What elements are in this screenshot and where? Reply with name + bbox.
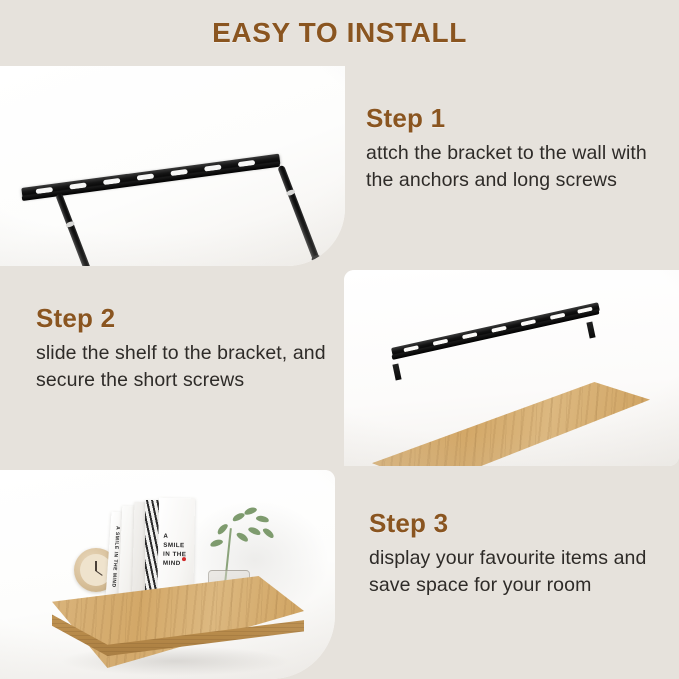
bracket-product-photo [0, 66, 345, 266]
plant-leaf [243, 506, 257, 516]
step-3-image-panel: A SMILE IN THE MIND A SMILEIN THEMIND [0, 470, 335, 679]
step-2-text: Step 2 slide the shelf to the bracket, a… [36, 303, 336, 394]
step-2-heading: Step 2 [36, 303, 336, 334]
styled-shelf-photo: A SMILE IN THE MIND A SMILEIN THEMIND [0, 470, 335, 679]
book-5-red-dot [182, 557, 186, 561]
bracket-foot-left [392, 364, 401, 381]
shelf-product-photo [344, 270, 679, 466]
plant-leaf [216, 522, 229, 536]
step-3-body: display your favourite items and save sp… [369, 545, 669, 599]
bracket-foot-right [586, 322, 595, 339]
step-1-text: Step 1 attch the bracket to the wall wit… [366, 103, 666, 194]
step-3-text: Step 3 display your favourite items and … [369, 508, 669, 599]
photo-background [0, 66, 345, 266]
plant-leaf [262, 527, 276, 540]
page-title: EASY TO INSTALL [0, 17, 679, 49]
step-2-body: slide the shelf to the bracket, and secu… [36, 340, 336, 394]
book-5-title: A SMILEIN THEMIND [163, 532, 192, 568]
plant-leaf [247, 526, 261, 537]
plant-leaf [256, 515, 270, 524]
shelf-bracket-lip [391, 309, 599, 360]
plant-leaf [235, 531, 249, 543]
step-1-image-panel [0, 66, 345, 266]
step-1-body: attch the bracket to the wall with the a… [366, 140, 666, 194]
plant-leaf [209, 538, 223, 548]
step-3-heading: Step 3 [369, 508, 669, 539]
step-1-heading: Step 1 [366, 103, 666, 134]
step-2-image-panel [344, 270, 679, 466]
shelf-board-top [372, 382, 650, 466]
